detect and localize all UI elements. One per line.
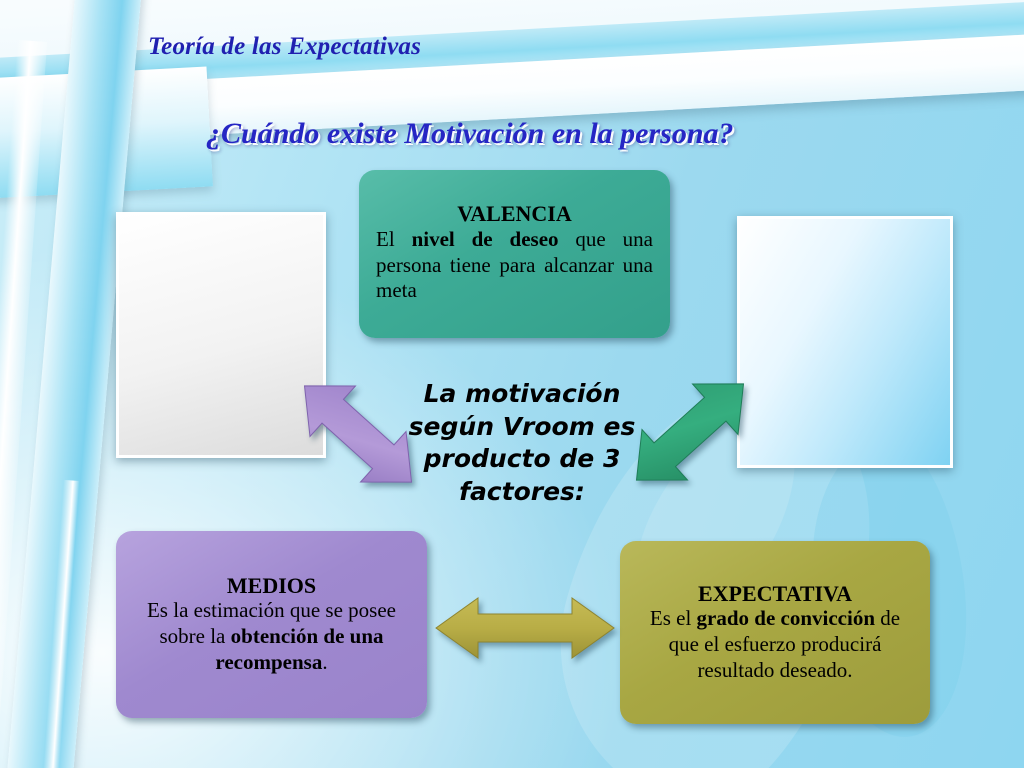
valencia-title: VALENCIA bbox=[376, 202, 653, 227]
medios-title: MEDIOS bbox=[130, 574, 413, 599]
photo-woman-thumbs-up bbox=[116, 212, 326, 458]
center-caption-line-1: La motivación bbox=[404, 378, 640, 411]
center-caption-line-4: factores: bbox=[404, 476, 640, 509]
double-arrow-valencia-expectativa-icon bbox=[628, 356, 752, 508]
header-band-left-block bbox=[0, 66, 213, 209]
slide-headline: ¿Cuándo existe Motivación en la persona? bbox=[206, 117, 734, 151]
valencia-body-bold: nivel de deseo bbox=[412, 227, 559, 251]
expectativa-title: EXPECTATIVA bbox=[634, 582, 916, 607]
center-caption-line-3: producto de 3 bbox=[404, 443, 640, 476]
valencia-body: El nivel de deseo que una persona tiene … bbox=[376, 227, 653, 304]
expectativa-body: Es el grado de convicción de que el esfu… bbox=[634, 606, 916, 683]
expectativa-body-bold: grado de convicción bbox=[697, 606, 876, 630]
edge-sliver-left bbox=[0, 40, 47, 768]
double-arrow-valencia-medios-icon bbox=[296, 358, 420, 510]
concept-box-valencia[interactable]: VALENCIA El nivel de deseo que una perso… bbox=[359, 170, 670, 338]
slide-canvas: Teoría de las Expectativas ¿Cuándo exist… bbox=[0, 0, 1024, 768]
medios-body-post: . bbox=[322, 650, 327, 674]
concept-box-medios[interactable]: MEDIOS Es la estimación que se posee sob… bbox=[116, 531, 427, 718]
concept-box-expectativa[interactable]: EXPECTATIVA Es el grado de convicción de… bbox=[620, 541, 930, 724]
expectativa-body-pre: Es el bbox=[650, 606, 697, 630]
slide-kicker-title: Teoría de las Expectativas bbox=[148, 33, 421, 61]
edge-sliver-left-lower bbox=[41, 480, 80, 768]
photo-business-couple bbox=[737, 216, 953, 468]
medios-body: Es la estimación que se posee sobre la o… bbox=[130, 598, 413, 675]
double-arrow-medios-expectativa-icon bbox=[432, 592, 618, 664]
valencia-body-pre: El bbox=[376, 227, 412, 251]
center-caption-line-2: según Vroom es bbox=[404, 411, 640, 444]
center-caption: La motivación según Vroom es producto de… bbox=[404, 378, 640, 508]
medios-body-bold: obtención de una recompensa bbox=[215, 624, 383, 674]
